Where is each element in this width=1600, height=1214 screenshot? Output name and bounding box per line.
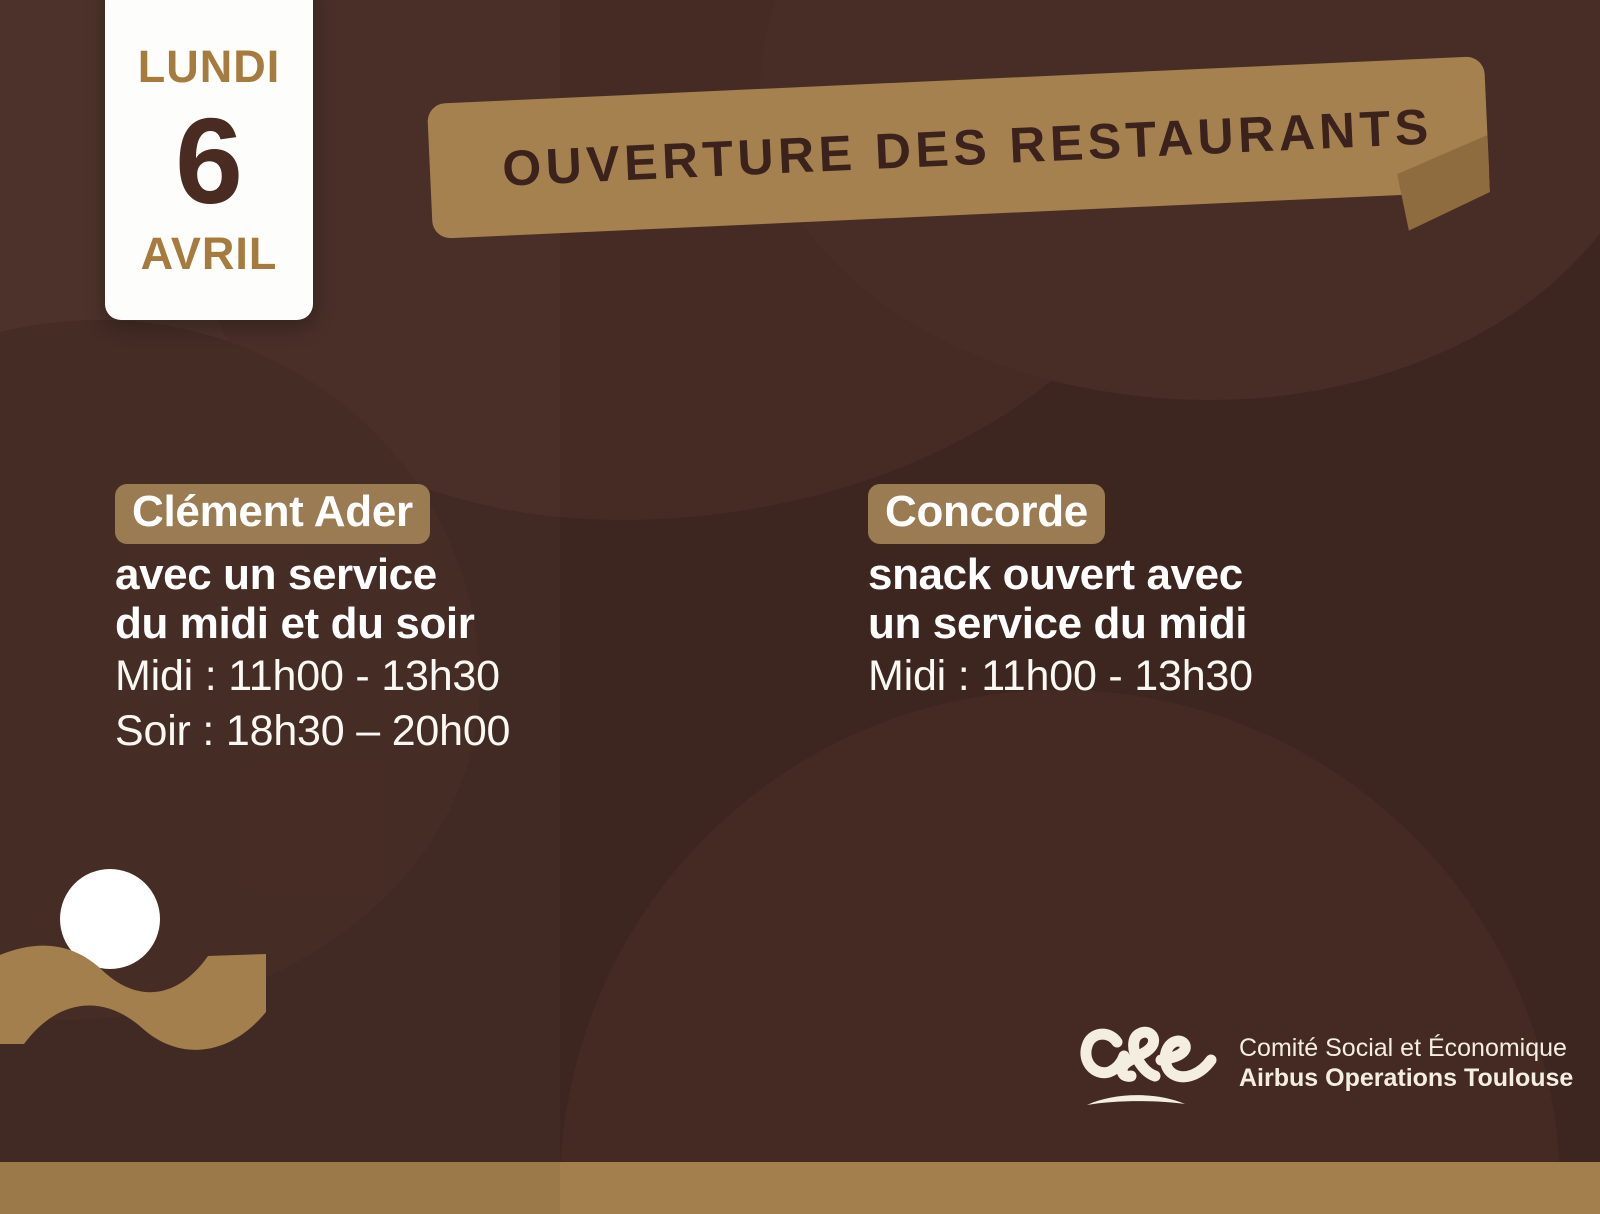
- restaurant-description: snack ouvert avec un service du midi: [868, 550, 1528, 649]
- calendar-day-number: 6: [175, 107, 243, 217]
- bottom-gold-bar: [0, 1162, 1600, 1214]
- bottom-gold-bar-shade: [0, 1162, 560, 1214]
- gold-wave-decoration: [0, 846, 284, 1076]
- banner-title: OUVERTURE DES RESTAURANTS: [427, 56, 1490, 239]
- calendar-date-card: LUNDI 6 AVRIL: [105, 0, 313, 320]
- restaurant-name-badge: Concorde: [868, 484, 1105, 544]
- restaurant-hours-lunch: Midi : 11h00 - 13h30: [115, 650, 815, 702]
- cse-script-logo-icon: [1075, 1012, 1225, 1114]
- restaurant-name-badge: Clément Ader: [115, 484, 430, 544]
- restaurant-block-concorde: Concorde snack ouvert avec un service du…: [868, 484, 1528, 703]
- cse-logo: Comité Social et Économique Airbus Opera…: [1075, 1012, 1573, 1114]
- poster-canvas: LUNDI 6 AVRIL OUVERTURE DES RESTAURANTS …: [0, 0, 1600, 1214]
- logo-organisation-name: Comité Social et Économique: [1239, 1033, 1573, 1064]
- logo-entity-name: Airbus Operations Toulouse: [1239, 1063, 1573, 1094]
- restaurant-block-clement-ader: Clément Ader avec un service du midi et …: [115, 484, 815, 757]
- calendar-month: AVRIL: [141, 231, 278, 276]
- background-circle-large: [560, 690, 1560, 1214]
- restaurant-hours-dinner: Soir : 18h30 – 20h00: [115, 705, 815, 757]
- logo-text-group: Comité Social et Économique Airbus Opera…: [1239, 1033, 1573, 1094]
- restaurant-hours-lunch: Midi : 11h00 - 13h30: [868, 650, 1528, 702]
- restaurant-description: avec un service du midi et du soir: [115, 550, 815, 649]
- title-ribbon: OUVERTURE DES RESTAURANTS: [427, 56, 1490, 239]
- calendar-weekday: LUNDI: [138, 44, 280, 89]
